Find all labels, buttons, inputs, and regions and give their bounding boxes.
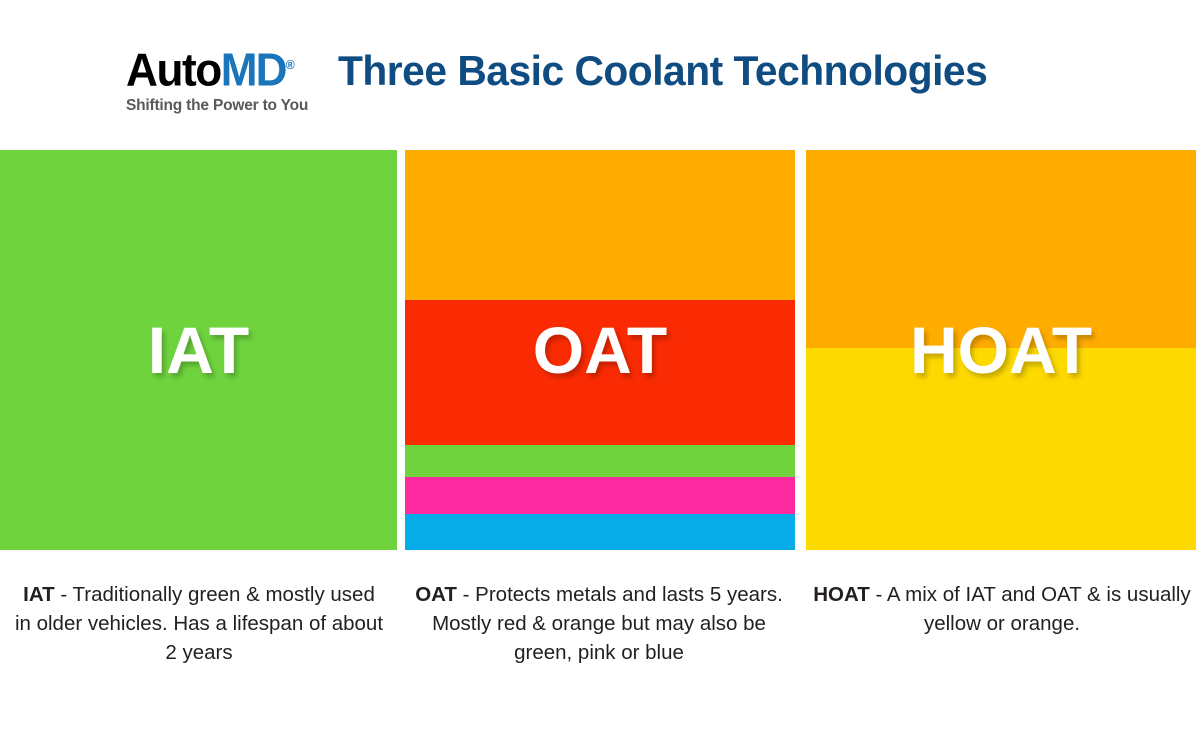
panel-hoat: HOAT — [806, 150, 1196, 550]
caption-term-oat: OAT — [415, 583, 457, 606]
caption-iat: IAT - Traditionally green & mostly used … — [14, 580, 384, 667]
logo-tagline: Shifting the Power to You — [126, 98, 326, 114]
header: AutoMD® Shifting the Power to You Three … — [0, 0, 1200, 140]
caption-separator-hoat: - — [870, 583, 887, 606]
caption-text-oat: Protects metals and lasts 5 years. Mostl… — [432, 583, 783, 664]
band-hoat-orange — [806, 150, 1196, 348]
band-iat-green — [0, 150, 397, 550]
infographic-page: AutoMD® Shifting the Power to You Three … — [0, 0, 1200, 740]
band-oat-green — [405, 445, 795, 477]
band-oat-red — [405, 300, 795, 445]
logo-word-auto: Auto — [126, 43, 221, 95]
logo-word-md: MD — [221, 43, 286, 95]
registered-trademark-icon: ® — [286, 57, 295, 72]
caption-term-hoat: HOAT — [813, 583, 870, 606]
page-title: Three Basic Coolant Technologies — [338, 45, 987, 97]
caption-separator-oat: - — [457, 583, 475, 606]
band-oat-orange — [405, 150, 795, 300]
coolant-panels: IAT OAT HOAT — [0, 150, 1200, 550]
panel-oat: OAT — [405, 150, 795, 550]
panel-iat: IAT — [0, 150, 397, 550]
band-oat-blue — [405, 514, 795, 550]
caption-separator-iat: - — [55, 583, 73, 606]
caption-text-hoat: A mix of IAT and OAT & is usually yellow… — [887, 583, 1191, 635]
automd-logo: AutoMD® Shifting the Power to You — [126, 42, 326, 114]
logo-wordmark: AutoMD® — [126, 42, 318, 92]
caption-hoat: HOAT - A mix of IAT and OAT & is usually… — [806, 580, 1198, 638]
caption-oat: OAT - Protects metals and lasts 5 years.… — [404, 580, 794, 667]
band-oat-pink — [405, 477, 795, 514]
captions: IAT - Traditionally green & mostly used … — [0, 580, 1200, 700]
caption-term-iat: IAT — [23, 583, 55, 606]
band-hoat-yellow — [806, 348, 1196, 550]
